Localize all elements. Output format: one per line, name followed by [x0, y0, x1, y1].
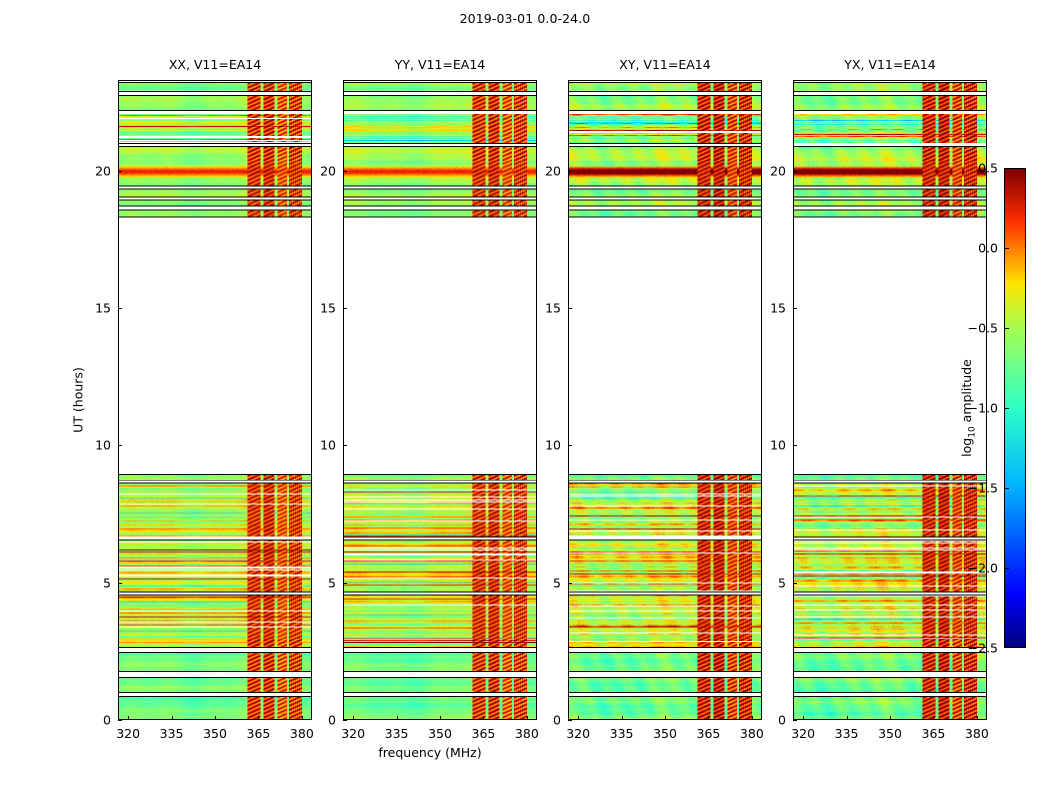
- x-tick-mark: [752, 716, 753, 720]
- figure-suptitle: 2019-03-01 0.0-24.0: [0, 11, 1050, 26]
- y-tick-mark: [793, 583, 797, 584]
- colorbar-label-tail: amplitude: [959, 359, 974, 426]
- colorbar-label-main: log: [959, 438, 974, 457]
- y-tick-label: 15: [770, 300, 786, 315]
- colorbar-label-sub: 10: [967, 426, 977, 437]
- y-tick-label: 10: [95, 438, 111, 453]
- colorbar-tick-label: 0.0: [978, 241, 998, 256]
- colorbar-tick-mark: [1004, 248, 1009, 249]
- x-tick-label: 335: [385, 726, 409, 741]
- colorbar-tick-mark: [1004, 488, 1009, 489]
- x-tick-label: 335: [835, 726, 859, 741]
- colorbar-tick-label: −2.0: [968, 561, 998, 576]
- x-tick-label: 350: [653, 726, 677, 741]
- colorbar-tick-label: −2.5: [968, 641, 998, 656]
- x-tick-mark: [483, 716, 484, 720]
- x-axis-label: frequency (MHz): [0, 745, 860, 760]
- x-tick-mark: [172, 716, 173, 720]
- y-tick-mark: [568, 445, 572, 446]
- x-tick-label: 365: [921, 726, 945, 741]
- heatmap-image-xx: [119, 81, 311, 719]
- x-tick-mark: [215, 716, 216, 720]
- x-tick-label: 350: [203, 726, 227, 741]
- x-tick-label: 335: [160, 726, 184, 741]
- y-tick-mark: [343, 445, 347, 446]
- x-tick-label: 380: [515, 726, 539, 741]
- y-tick-label: 20: [320, 163, 336, 178]
- y-tick-label: 5: [328, 575, 336, 590]
- x-tick-mark: [933, 716, 934, 720]
- colorbar-tick-mark: [1004, 408, 1009, 409]
- y-tick-mark: [343, 583, 347, 584]
- y-tick-label: 20: [770, 163, 786, 178]
- y-tick-label: 5: [778, 575, 786, 590]
- x-tick-label: 350: [878, 726, 902, 741]
- x-tick-label: 320: [566, 726, 590, 741]
- y-tick-label: 5: [553, 575, 561, 590]
- figure-canvas: 2019-03-01 0.0-24.0 frequency (MHz) UT (…: [0, 0, 1050, 800]
- x-tick-mark: [258, 716, 259, 720]
- x-tick-mark: [708, 716, 709, 720]
- x-tick-mark: [578, 716, 579, 720]
- y-tick-mark: [118, 720, 122, 721]
- y-tick-mark: [793, 171, 797, 172]
- x-tick-mark: [847, 716, 848, 720]
- y-tick-mark: [568, 171, 572, 172]
- x-tick-mark: [302, 716, 303, 720]
- y-tick-mark: [793, 720, 797, 721]
- x-tick-mark: [440, 716, 441, 720]
- x-tick-label: 320: [341, 726, 365, 741]
- heatmap-panel-xy[interactable]: [568, 80, 762, 720]
- y-tick-mark: [118, 445, 122, 446]
- x-tick-label: 350: [428, 726, 452, 741]
- x-tick-label: 380: [965, 726, 989, 741]
- panel-title-xy: XY, V11=EA14: [568, 57, 762, 72]
- y-tick-label: 10: [320, 438, 336, 453]
- y-tick-label: 5: [103, 575, 111, 590]
- y-tick-label: 0: [328, 713, 336, 728]
- y-tick-mark: [118, 171, 122, 172]
- heatmap-panel-yy[interactable]: [343, 80, 537, 720]
- x-tick-mark: [665, 716, 666, 720]
- panel-title-yx: YX, V11=EA14: [793, 57, 987, 72]
- x-tick-mark: [622, 716, 623, 720]
- y-tick-label: 0: [778, 713, 786, 728]
- y-tick-mark: [568, 583, 572, 584]
- x-tick-mark: [890, 716, 891, 720]
- x-tick-label: 380: [740, 726, 764, 741]
- y-tick-mark: [118, 583, 122, 584]
- y-tick-mark: [568, 308, 572, 309]
- y-tick-mark: [793, 445, 797, 446]
- panel-title-xx: XX, V11=EA14: [118, 57, 312, 72]
- x-tick-mark: [527, 716, 528, 720]
- x-tick-label: 335: [610, 726, 634, 741]
- x-tick-label: 365: [471, 726, 495, 741]
- y-tick-label: 0: [103, 713, 111, 728]
- heatmap-image-xy: [569, 81, 761, 719]
- y-tick-mark: [343, 171, 347, 172]
- heatmap-image-yy: [344, 81, 536, 719]
- y-tick-label: 10: [545, 438, 561, 453]
- y-tick-label: 20: [545, 163, 561, 178]
- colorbar-label: log10 amplitude: [959, 359, 978, 457]
- y-tick-mark: [343, 308, 347, 309]
- x-tick-mark: [397, 716, 398, 720]
- y-tick-label: 15: [95, 300, 111, 315]
- y-tick-label: 20: [95, 163, 111, 178]
- panel-title-yy: YY, V11=EA14: [343, 57, 537, 72]
- x-tick-mark: [128, 716, 129, 720]
- y-axis-label: UT (hours): [71, 367, 86, 433]
- x-tick-label: 380: [290, 726, 314, 741]
- x-tick-label: 365: [696, 726, 720, 741]
- colorbar-tick-label: −1.5: [968, 481, 998, 496]
- y-tick-label: 15: [320, 300, 336, 315]
- colorbar-tick-mark: [1004, 568, 1009, 569]
- x-tick-mark: [353, 716, 354, 720]
- x-tick-label: 320: [116, 726, 140, 741]
- colorbar-tick-label: 0.5: [978, 161, 998, 176]
- x-tick-mark: [803, 716, 804, 720]
- colorbar-tick-mark: [1004, 328, 1009, 329]
- x-tick-label: 320: [791, 726, 815, 741]
- y-tick-label: 0: [553, 713, 561, 728]
- x-tick-label: 365: [246, 726, 270, 741]
- y-tick-label: 15: [545, 300, 561, 315]
- y-tick-mark: [568, 720, 572, 721]
- y-tick-mark: [793, 308, 797, 309]
- y-tick-mark: [343, 720, 347, 721]
- y-tick-label: 10: [770, 438, 786, 453]
- heatmap-panel-xx[interactable]: [118, 80, 312, 720]
- colorbar-tick-label: −0.5: [968, 321, 998, 336]
- x-tick-mark: [977, 716, 978, 720]
- y-tick-mark: [118, 308, 122, 309]
- heatmap-image-yx: [794, 81, 986, 719]
